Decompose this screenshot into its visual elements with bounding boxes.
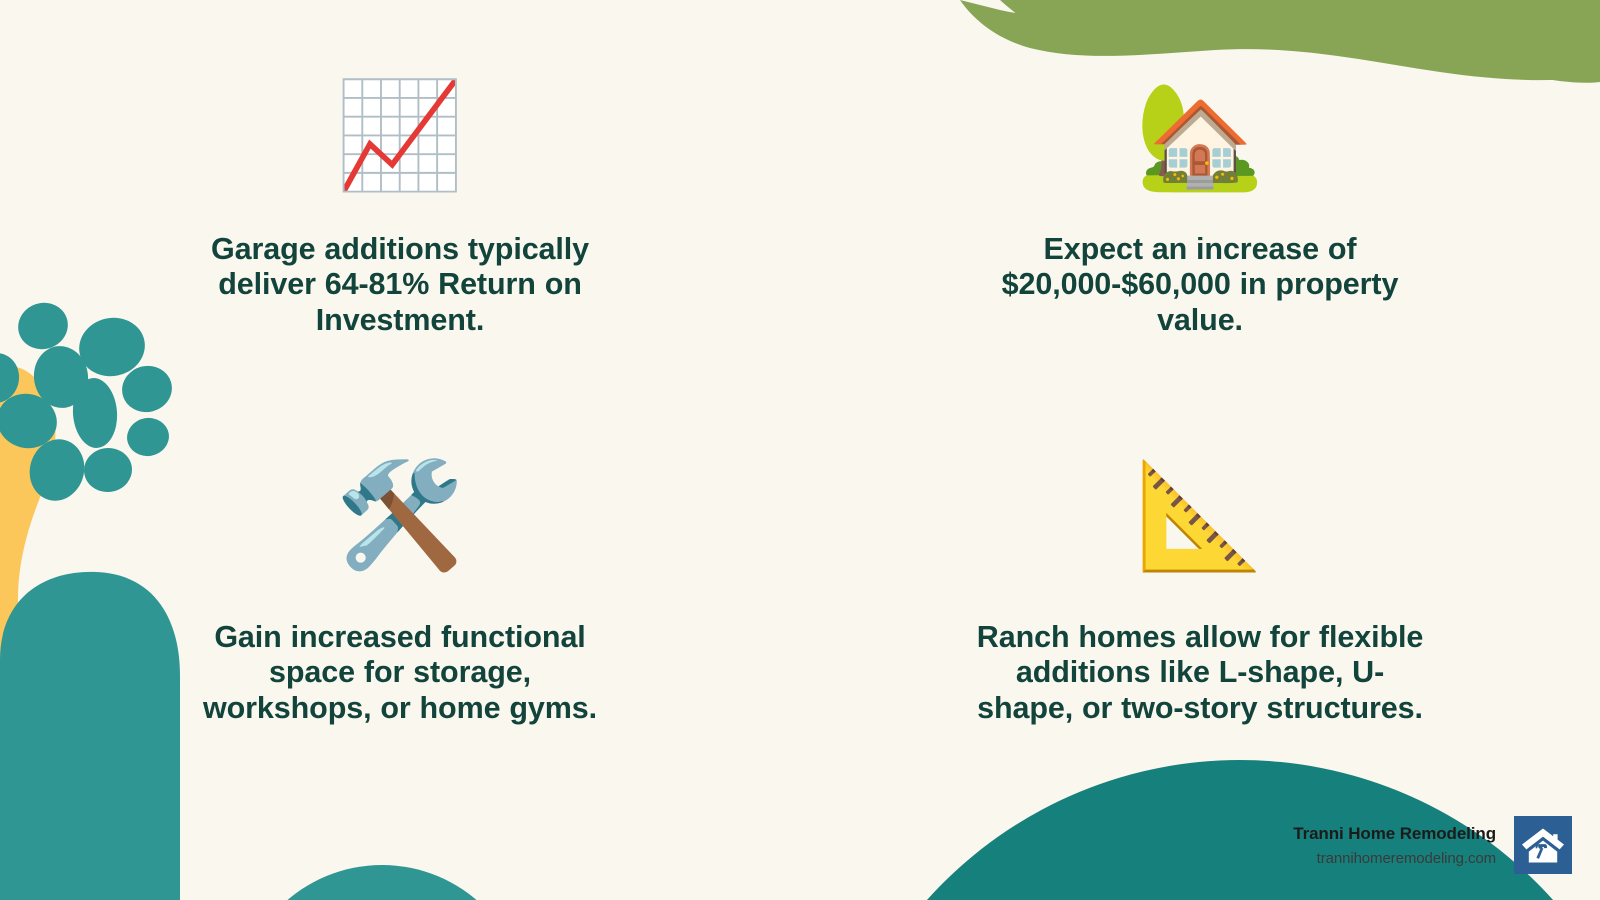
house-with-garden-icon: 🏡 [1135, 78, 1265, 196]
brand-website-url[interactable]: trannihomeremodeling.com [1317, 850, 1496, 867]
fact-card-ranch-homes-text: Ranch homes allow for flexible additions… [975, 620, 1425, 726]
brand-footer: Tranni Home Remodeling trannihomeremodel… [1293, 816, 1572, 874]
fact-card-property-value-text: Expect an increase of $20,000-$60,000 in… [975, 232, 1425, 338]
fact-card-roi: 📈 Garage additions typically deliver 64-… [0, 0, 800, 390]
teal-circle-bottom-center [237, 865, 527, 900]
triangular-ruler-icon: 📐 [1135, 458, 1265, 576]
fact-card-ranch-homes: 📐 Ranch homes allow for flexible additio… [800, 390, 1600, 780]
fact-card-functional-space: 🛠️ Gain increased functional space for s… [0, 390, 800, 780]
fact-card-functional-space-text: Gain increased functional space for stor… [185, 620, 615, 726]
chart-increasing-icon: 📈 [335, 78, 465, 196]
fact-card-roi-text: Garage additions typically deliver 64-81… [185, 232, 615, 338]
facts-grid: 📈 Garage additions typically deliver 64-… [0, 0, 1600, 780]
brand-name: Tranni Home Remodeling [1293, 824, 1496, 844]
hammer-and-wrench-icon: 🛠️ [335, 458, 465, 576]
house-with-hammer-logo-icon [1520, 822, 1566, 868]
infographic-canvas: 📈 Garage additions typically deliver 64-… [0, 0, 1600, 900]
fact-card-property-value: 🏡 Expect an increase of $20,000-$60,000 … [800, 0, 1600, 390]
brand-text-block: Tranni Home Remodeling trannihomeremodel… [1293, 824, 1496, 867]
brand-logo[interactable] [1514, 816, 1572, 874]
